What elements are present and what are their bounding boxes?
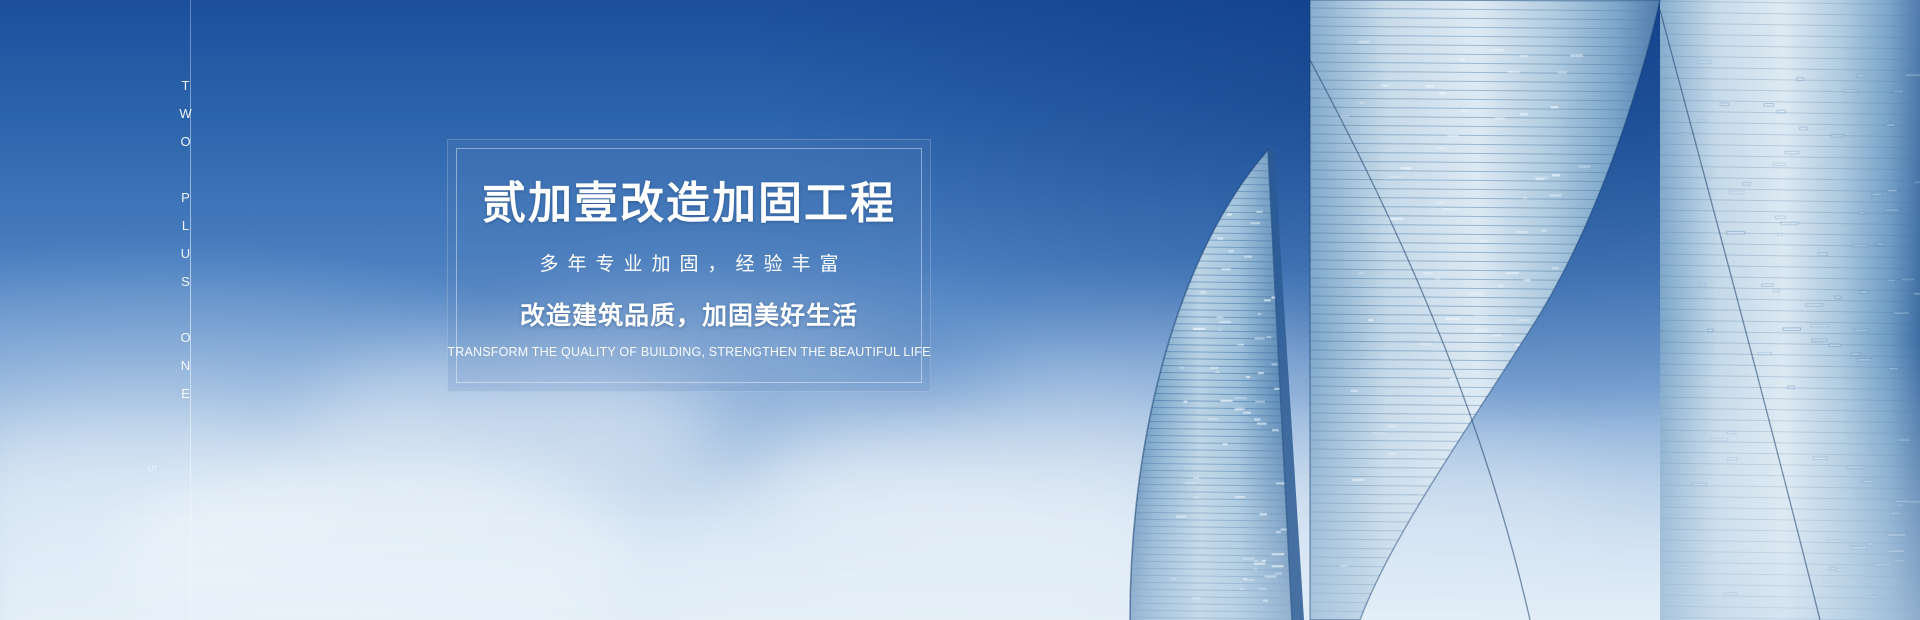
corner-mark: 5 xyxy=(145,465,159,472)
hero-subline: 多年专业加固，经验丰富 xyxy=(447,249,931,276)
skyscraper-illustration xyxy=(1060,0,1920,620)
hero-text-panel: 贰加壹改造加固工程 多年专业加固，经验丰富 改造建筑品质，加固美好生活 TRAN… xyxy=(447,139,931,392)
panel-content: 贰加壹改造加固工程 多年专业加固，经验丰富 改造建筑品质，加固美好生活 TRAN… xyxy=(447,139,931,359)
hero-english-subtitle: TRANSFORM THE QUALITY OF BUILDING, STREN… xyxy=(447,345,931,359)
hero-headline: 贰加壹改造加固工程 xyxy=(447,181,931,227)
hero-banner: TWO PLUS ONE 5 贰加壹改造加固工程 多年专业加固，经验丰富 改造建… xyxy=(0,0,1920,620)
brand-vertical-label: TWO PLUS ONE xyxy=(178,78,193,414)
hero-tagline: 改造建筑品质，加固美好生活 xyxy=(447,296,931,332)
